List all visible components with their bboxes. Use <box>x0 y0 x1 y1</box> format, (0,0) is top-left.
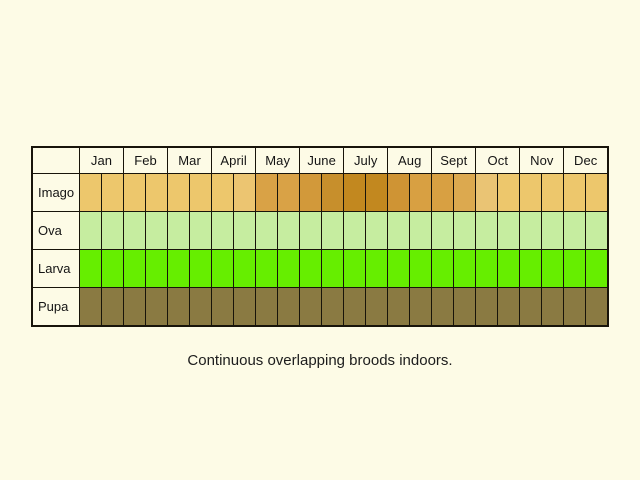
lifecycle-table: JanFebMarAprilMayJuneJulyAugSeptOctNovDe… <box>31 146 609 327</box>
cell-imago-oct-2 <box>498 174 520 212</box>
cell-larva-mar-2 <box>190 250 212 288</box>
cell-ova-july-1 <box>344 212 366 250</box>
corner-cell <box>32 147 80 174</box>
cell-pupa-may-1 <box>256 288 278 327</box>
cell-larva-june-1 <box>300 250 322 288</box>
cell-imago-mar-1 <box>168 174 190 212</box>
stage-label-larva: Larva <box>32 250 80 288</box>
cell-imago-may-2 <box>278 174 300 212</box>
cell-imago-aug-1 <box>388 174 410 212</box>
cell-larva-aug-2 <box>410 250 432 288</box>
cell-pupa-june-2 <box>322 288 344 327</box>
month-header-dec: Dec <box>564 147 608 174</box>
cell-imago-oct-1 <box>476 174 498 212</box>
cell-larva-aug-1 <box>388 250 410 288</box>
cell-ova-dec-1 <box>564 212 586 250</box>
cell-pupa-dec-1 <box>564 288 586 327</box>
cell-ova-jan-1 <box>80 212 102 250</box>
lifecycle-chart: JanFebMarAprilMayJuneJulyAugSeptOctNovDe… <box>31 146 609 327</box>
cell-imago-nov-2 <box>542 174 564 212</box>
cell-pupa-feb-2 <box>146 288 168 327</box>
cell-imago-april-1 <box>212 174 234 212</box>
cell-ova-may-1 <box>256 212 278 250</box>
cell-ova-sept-1 <box>432 212 454 250</box>
cell-larva-feb-2 <box>146 250 168 288</box>
cell-larva-sept-2 <box>454 250 476 288</box>
cell-ova-feb-2 <box>146 212 168 250</box>
month-header-jan: Jan <box>80 147 124 174</box>
cell-ova-sept-2 <box>454 212 476 250</box>
cell-imago-mar-2 <box>190 174 212 212</box>
stage-row-pupa: Pupa <box>32 288 608 327</box>
month-header-june: June <box>300 147 344 174</box>
cell-ova-nov-1 <box>520 212 542 250</box>
cell-pupa-april-1 <box>212 288 234 327</box>
cell-pupa-oct-2 <box>498 288 520 327</box>
cell-ova-mar-1 <box>168 212 190 250</box>
cell-larva-dec-2 <box>586 250 608 288</box>
cell-ova-mar-2 <box>190 212 212 250</box>
month-header-sept: Sept <box>432 147 476 174</box>
cell-imago-nov-1 <box>520 174 542 212</box>
cell-larva-july-2 <box>366 250 388 288</box>
month-header-feb: Feb <box>124 147 168 174</box>
cell-imago-jan-1 <box>80 174 102 212</box>
cell-larva-feb-1 <box>124 250 146 288</box>
cell-ova-nov-2 <box>542 212 564 250</box>
cell-imago-dec-1 <box>564 174 586 212</box>
month-header-aug: Aug <box>388 147 432 174</box>
cell-ova-april-2 <box>234 212 256 250</box>
cell-imago-dec-2 <box>586 174 608 212</box>
cell-pupa-mar-2 <box>190 288 212 327</box>
cell-imago-sept-1 <box>432 174 454 212</box>
cell-imago-feb-2 <box>146 174 168 212</box>
month-header-mar: Mar <box>168 147 212 174</box>
cell-imago-feb-1 <box>124 174 146 212</box>
month-header-april: April <box>212 147 256 174</box>
cell-pupa-july-1 <box>344 288 366 327</box>
stage-label-pupa: Pupa <box>32 288 80 327</box>
cell-pupa-aug-2 <box>410 288 432 327</box>
cell-imago-jan-2 <box>102 174 124 212</box>
month-header-row: JanFebMarAprilMayJuneJulyAugSeptOctNovDe… <box>32 147 608 174</box>
cell-pupa-jan-2 <box>102 288 124 327</box>
cell-imago-june-1 <box>300 174 322 212</box>
cell-ova-aug-2 <box>410 212 432 250</box>
stage-row-larva: Larva <box>32 250 608 288</box>
cell-larva-oct-2 <box>498 250 520 288</box>
cell-pupa-may-2 <box>278 288 300 327</box>
cell-pupa-june-1 <box>300 288 322 327</box>
cell-larva-nov-2 <box>542 250 564 288</box>
cell-larva-oct-1 <box>476 250 498 288</box>
cell-imago-july-1 <box>344 174 366 212</box>
cell-pupa-dec-2 <box>586 288 608 327</box>
table-body: JanFebMarAprilMayJuneJulyAugSeptOctNovDe… <box>32 147 608 326</box>
cell-pupa-aug-1 <box>388 288 410 327</box>
cell-pupa-jan-1 <box>80 288 102 327</box>
stage-row-ova: Ova <box>32 212 608 250</box>
month-header-oct: Oct <box>476 147 520 174</box>
cell-ova-may-2 <box>278 212 300 250</box>
cell-pupa-july-2 <box>366 288 388 327</box>
cell-larva-june-2 <box>322 250 344 288</box>
cell-imago-aug-2 <box>410 174 432 212</box>
cell-larva-dec-1 <box>564 250 586 288</box>
month-header-july: July <box>344 147 388 174</box>
cell-pupa-feb-1 <box>124 288 146 327</box>
cell-pupa-mar-1 <box>168 288 190 327</box>
stage-label-ova: Ova <box>32 212 80 250</box>
cell-ova-april-1 <box>212 212 234 250</box>
cell-ova-feb-1 <box>124 212 146 250</box>
cell-larva-jan-1 <box>80 250 102 288</box>
cell-pupa-sept-2 <box>454 288 476 327</box>
cell-imago-july-2 <box>366 174 388 212</box>
cell-larva-may-2 <box>278 250 300 288</box>
cell-larva-april-1 <box>212 250 234 288</box>
chart-caption: Continuous overlapping broods indoors. <box>0 352 640 369</box>
cell-ova-june-1 <box>300 212 322 250</box>
cell-larva-april-2 <box>234 250 256 288</box>
cell-ova-oct-2 <box>498 212 520 250</box>
cell-larva-sept-1 <box>432 250 454 288</box>
cell-larva-may-1 <box>256 250 278 288</box>
cell-ova-july-2 <box>366 212 388 250</box>
cell-pupa-nov-2 <box>542 288 564 327</box>
cell-ova-june-2 <box>322 212 344 250</box>
cell-imago-may-1 <box>256 174 278 212</box>
cell-imago-april-2 <box>234 174 256 212</box>
cell-larva-mar-1 <box>168 250 190 288</box>
cell-imago-sept-2 <box>454 174 476 212</box>
cell-pupa-sept-1 <box>432 288 454 327</box>
cell-pupa-nov-1 <box>520 288 542 327</box>
month-header-may: May <box>256 147 300 174</box>
stage-label-imago: Imago <box>32 174 80 212</box>
cell-ova-jan-2 <box>102 212 124 250</box>
month-header-nov: Nov <box>520 147 564 174</box>
cell-ova-aug-1 <box>388 212 410 250</box>
cell-pupa-oct-1 <box>476 288 498 327</box>
cell-imago-june-2 <box>322 174 344 212</box>
stage-row-imago: Imago <box>32 174 608 212</box>
cell-larva-july-1 <box>344 250 366 288</box>
cell-larva-jan-2 <box>102 250 124 288</box>
cell-larva-nov-1 <box>520 250 542 288</box>
cell-pupa-april-2 <box>234 288 256 327</box>
cell-ova-dec-2 <box>586 212 608 250</box>
cell-ova-oct-1 <box>476 212 498 250</box>
